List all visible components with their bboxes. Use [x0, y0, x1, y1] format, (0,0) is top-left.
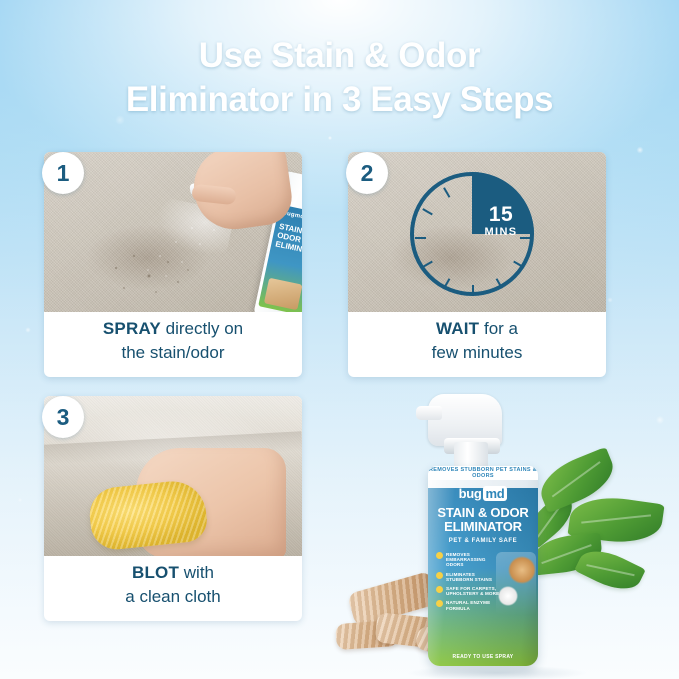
- step-1-caption: SPRAY directly on the stain/odor: [44, 317, 302, 365]
- step-number-badge-2: 2: [346, 152, 388, 194]
- product-brand: bugmd: [428, 486, 538, 501]
- bullet-dot-icon: [436, 572, 443, 579]
- step-3-caption-line-2: a clean cloth: [125, 587, 220, 606]
- bullet-dot-icon: [436, 586, 443, 593]
- product-name-line-2: ELIMINATOR: [444, 519, 522, 534]
- brand-name: bug: [459, 486, 482, 501]
- step-1-action-label: SPRAY: [103, 319, 161, 338]
- product-bullet-text: SAFE FOR CARPETS, UPHOLSTERY & MORE: [446, 586, 500, 596]
- inset-bottle-dog-photo: [264, 278, 302, 311]
- product-subtitle: PET & FAMILY SAFE: [428, 538, 538, 544]
- step-card-2: 15 MINS WAIT for a few minutes: [348, 152, 606, 377]
- clock-duration: 15 MINS: [474, 204, 528, 238]
- step-number-badge-1: 1: [42, 152, 84, 194]
- product-bullet: NATURAL ENZYME FORMULA: [436, 600, 500, 610]
- step-3-action-label: BLOT: [132, 563, 179, 582]
- step-2-caption-line-2: few minutes: [432, 343, 523, 362]
- headline-line-2: Eliminator in 3 Easy Steps: [0, 78, 679, 122]
- step-number-badge-3: 3: [42, 396, 84, 438]
- product-bullet-text: ELIMINATES STUBBORN STAINS: [446, 572, 500, 582]
- page-title: Use Stain & Odor Eliminator in 3 Easy St…: [0, 34, 679, 122]
- promo-infographic: Use Stain & Odor Eliminator in 3 Easy St…: [0, 0, 679, 679]
- step-1-caption-rest: directly on: [161, 319, 243, 338]
- product-bullets: REMOVES EMBARRASSING ODORS ELIMINATES ST…: [436, 552, 500, 615]
- step-2-caption-rest: for a: [479, 319, 518, 338]
- product-hero: REMOVES STUBBORN PET STAINS & ODORS bugm…: [332, 386, 679, 679]
- product-bullet: SAFE FOR CARPETS, UPHOLSTERY & MORE: [436, 586, 500, 596]
- product-spray-nozzle-icon: [416, 406, 442, 420]
- brand-suffix: md: [483, 486, 508, 501]
- step-3-caption: BLOT with a clean cloth: [44, 561, 302, 609]
- pets-photo: [496, 552, 536, 616]
- bullet-dot-icon: [436, 552, 443, 559]
- product-bullet-text: REMOVES EMBARRASSING ODORS: [446, 552, 500, 568]
- product-bullet: ELIMINATES STUBBORN STAINS: [436, 572, 500, 582]
- step-3-caption-rest: with: [179, 563, 214, 582]
- inset-bottle-name: STAIN & ODOR ELIMINATOR: [275, 222, 302, 256]
- product-bottle: REMOVES STUBBORN PET STAINS & ODORS bugm…: [428, 466, 538, 666]
- step-card-1: bugmd STAIN & ODOR ELIMINATOR SPRAY dire…: [44, 152, 302, 377]
- product-bullet: REMOVES EMBARRASSING ODORS: [436, 552, 500, 568]
- product-top-strip: REMOVES STUBBORN PET STAINS & ODORS: [428, 466, 538, 480]
- product-name: STAIN & ODOR ELIMINATOR: [428, 506, 538, 534]
- product-name-line-1: STAIN & ODOR: [437, 505, 528, 520]
- headline-line-1: Use Stain & Odor: [199, 36, 480, 75]
- clock-duration-value: 15: [489, 203, 513, 226]
- product-bottom-strip: READY TO USE SPRAY: [428, 654, 538, 660]
- clock-duration-unit: MINS: [474, 227, 528, 238]
- step-card-3: BLOT with a clean cloth: [44, 396, 302, 621]
- step-1-caption-line-2: the stain/odor: [121, 343, 224, 362]
- step-2-action-label: WAIT: [436, 319, 479, 338]
- cleaning-cloth: [87, 478, 209, 552]
- step-2-caption: WAIT for a few minutes: [348, 317, 606, 365]
- bullet-dot-icon: [436, 600, 443, 607]
- product-bullet-text: NATURAL ENZYME FORMULA: [446, 600, 500, 610]
